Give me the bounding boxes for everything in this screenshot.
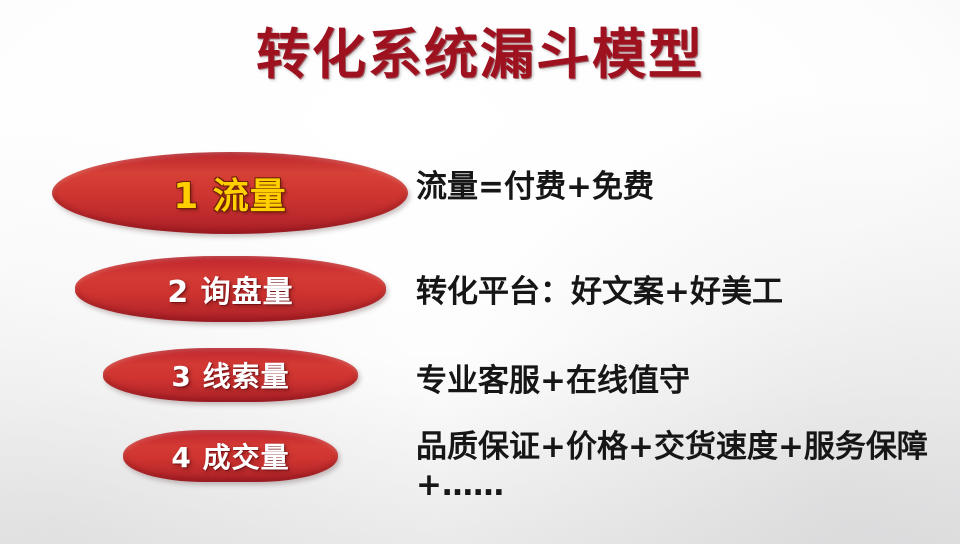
funnel-stage-4-description: 品质保证+价格+交货速度+服务保障+…… bbox=[416, 428, 946, 504]
page-title: 转化系统漏斗模型 bbox=[0, 24, 960, 86]
funnel-stage-1-description: 流量=付费+免费 bbox=[416, 167, 654, 207]
funnel-stage-3-description: 专业客服+在线值守 bbox=[416, 361, 690, 401]
funnel-stage-2-description: 转化平台：好文案+好美工 bbox=[416, 272, 783, 312]
slide-canvas: 转化系统漏斗模型 1 流量 2 询盘量 3 线索量 4 成交量 流量=付费+免费… bbox=[0, 0, 960, 544]
